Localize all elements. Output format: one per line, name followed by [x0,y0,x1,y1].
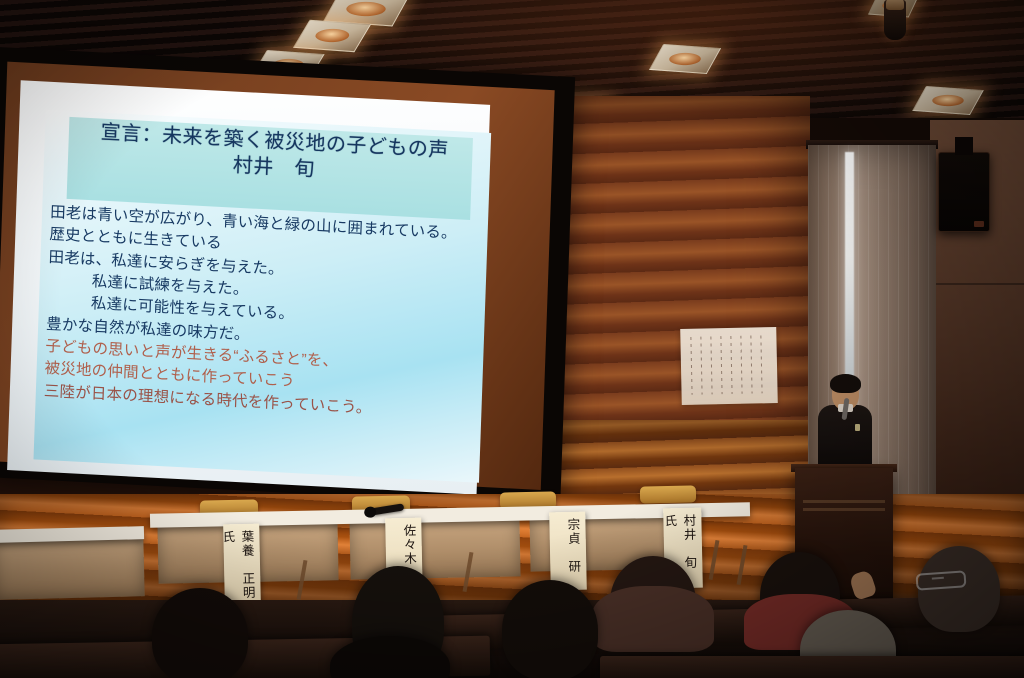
speaker-hair [830,374,861,393]
eyeglasses-icon [915,570,966,590]
stage-chair [640,485,696,503]
audience-head [610,556,696,648]
projection-screen: 宣言：未来を築く被災地の子どもの声 村井 旬 田老は青い空が広がり、青い海と緑の… [0,47,575,507]
name-placard: 葉養 正明 氏 [223,524,261,605]
seat-row [600,656,1024,678]
presentation-slide: 宣言：未来を築く被災地の子どもの声 村井 旬 田老は青い空が広がり、青い海と緑の… [33,110,491,483]
projected-area: 宣言：未来を築く被災地の子どもの声 村井 旬 田老は青い空が広がり、青い海と緑の… [7,80,490,494]
table-skirt [0,536,145,600]
auditorium-photo: 宣言：未来を築く被災地の子どもの声 村井 旬 田老は青い空が広がり、青い海と緑の… [0,0,1024,678]
name-placard: 宗貞 研 [549,512,587,591]
audience-head [152,588,248,678]
pendant-fixture [884,0,906,40]
lapel-badge [855,424,860,431]
audience-head [502,580,598,678]
slide-body: 田老は青い空が広がり、青い海と緑の山に囲まれている。 歴史とともに生きている 田… [43,202,479,425]
table-skirt [349,514,520,579]
wall-poster [680,327,778,405]
screen-surface: 宣言：未来を築く被災地の子どもの声 村井 旬 田老は青い空が広がり、青い海と緑の… [0,62,555,490]
ceiling-pa-speaker [938,152,990,232]
